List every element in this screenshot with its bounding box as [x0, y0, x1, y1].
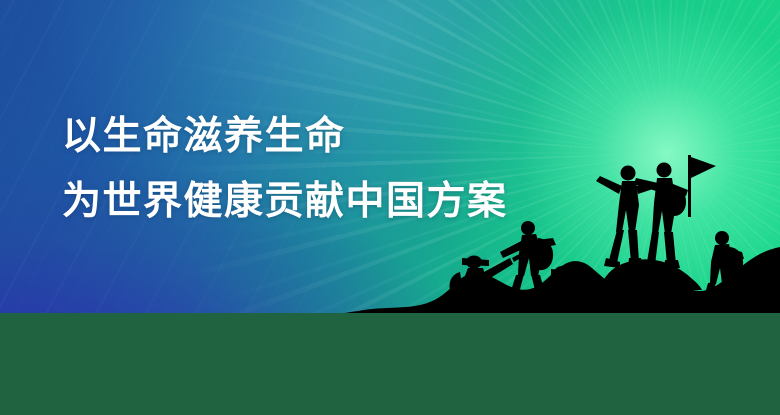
headline-line-1: 以生命滋养生命	[62, 104, 508, 169]
headline-line-2: 为世界健康贡献中国方案	[62, 169, 508, 234]
headline-block: 以生命滋养生命 为世界健康贡献中国方案	[62, 104, 508, 234]
footer-bar	[0, 313, 780, 415]
enterprise-mission-banner: 以生命滋养生命 为世界健康贡献中国方案 企业使命 ENTERPRISE MISS…	[0, 0, 780, 415]
